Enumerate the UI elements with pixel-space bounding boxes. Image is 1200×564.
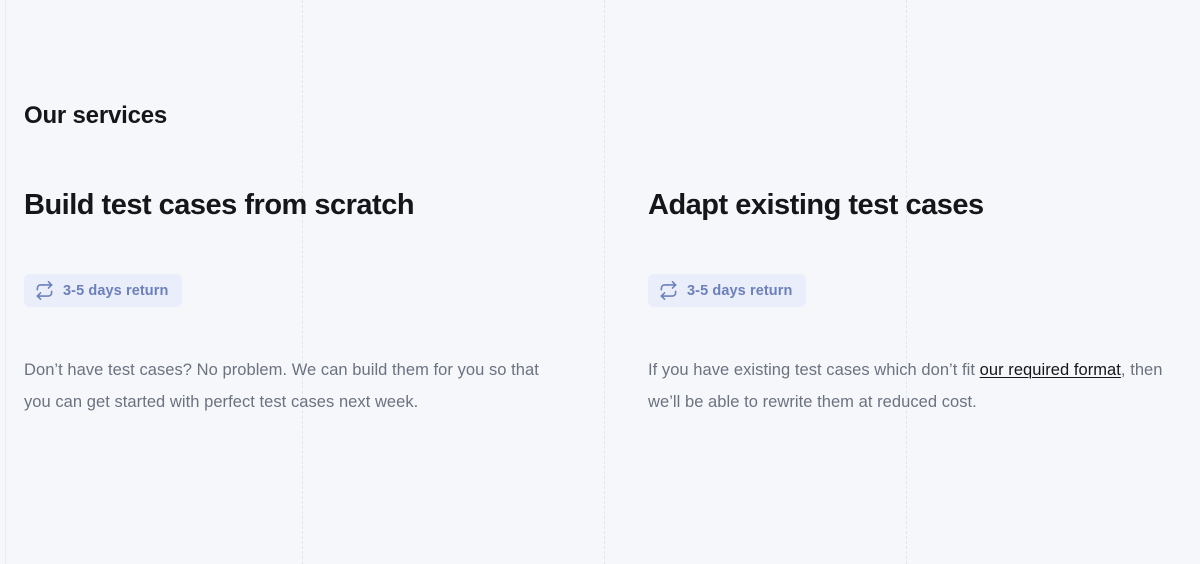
turnaround-badge: 3-5 days return	[648, 274, 806, 307]
service-card: Build test cases from scratch 3-5 days r…	[24, 186, 602, 418]
turnaround-badge: 3-5 days return	[24, 274, 182, 307]
service-card-description: Don’t have test cases? No problem. We ca…	[24, 354, 564, 418]
description-text-before-link: If you have existing test cases which do…	[648, 361, 980, 379]
service-card: Adapt existing test cases 3-5 days retur…	[624, 186, 1200, 418]
service-card-title: Build test cases from scratch	[24, 186, 602, 224]
service-card-description: If you have existing test cases which do…	[648, 354, 1168, 418]
services-section: Our services Build test cases from scrat…	[0, 0, 1200, 564]
repeat-loop-icon	[35, 281, 54, 300]
description-text-before-link: Don’t have test cases? No problem. We ca…	[24, 361, 539, 411]
services-card-grid: Build test cases from scratch 3-5 days r…	[24, 186, 1176, 418]
section-eyebrow-title: Our services	[24, 100, 167, 132]
required-format-link[interactable]: our required format	[980, 361, 1121, 379]
repeat-loop-icon	[659, 281, 678, 300]
service-card-title: Adapt existing test cases	[648, 186, 1200, 224]
turnaround-badge-label: 3-5 days return	[63, 282, 168, 300]
turnaround-badge-label: 3-5 days return	[687, 282, 792, 300]
